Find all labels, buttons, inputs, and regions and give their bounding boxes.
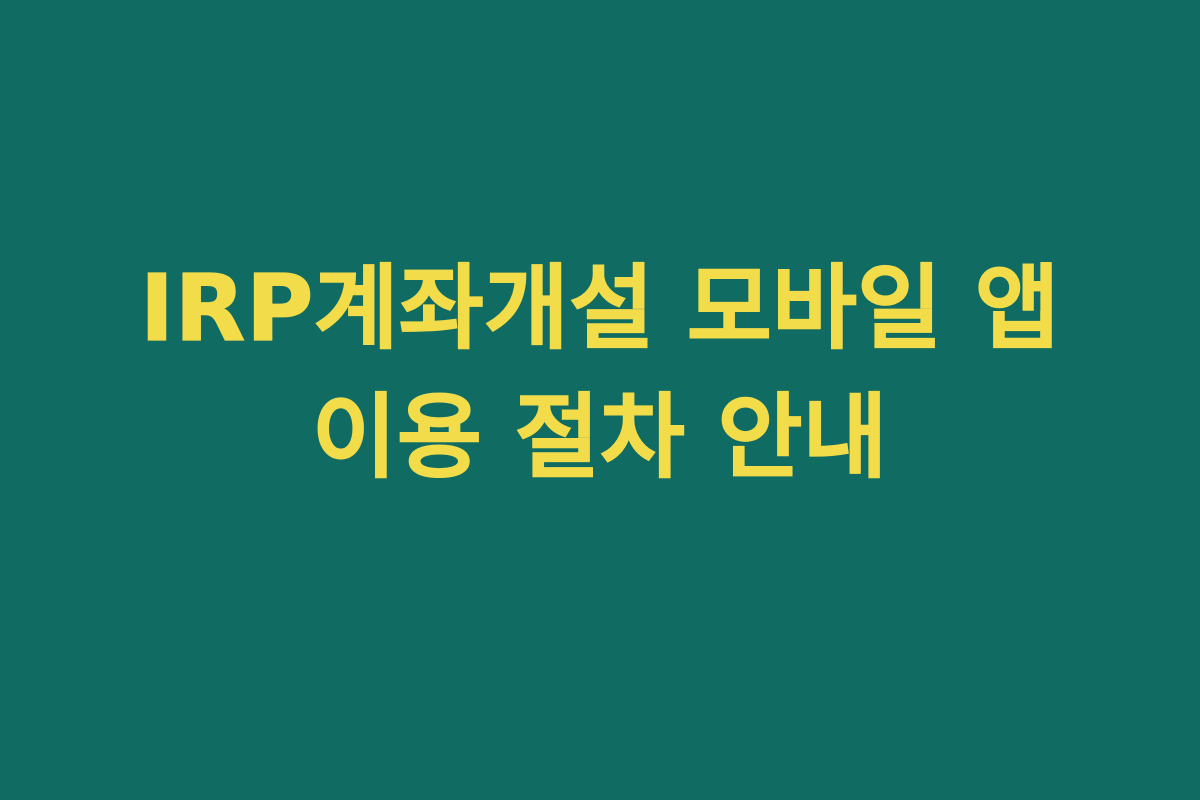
headline-line-1: IRP계좌개설 모바일 앱 bbox=[140, 246, 1060, 373]
headline-line-2: 이용 절차 안내 bbox=[140, 375, 1060, 502]
title-banner: IRP계좌개설 모바일 앱 이용 절차 안내 bbox=[0, 0, 1200, 800]
banner-headline: IRP계좌개설 모바일 앱 이용 절차 안내 bbox=[140, 246, 1060, 502]
